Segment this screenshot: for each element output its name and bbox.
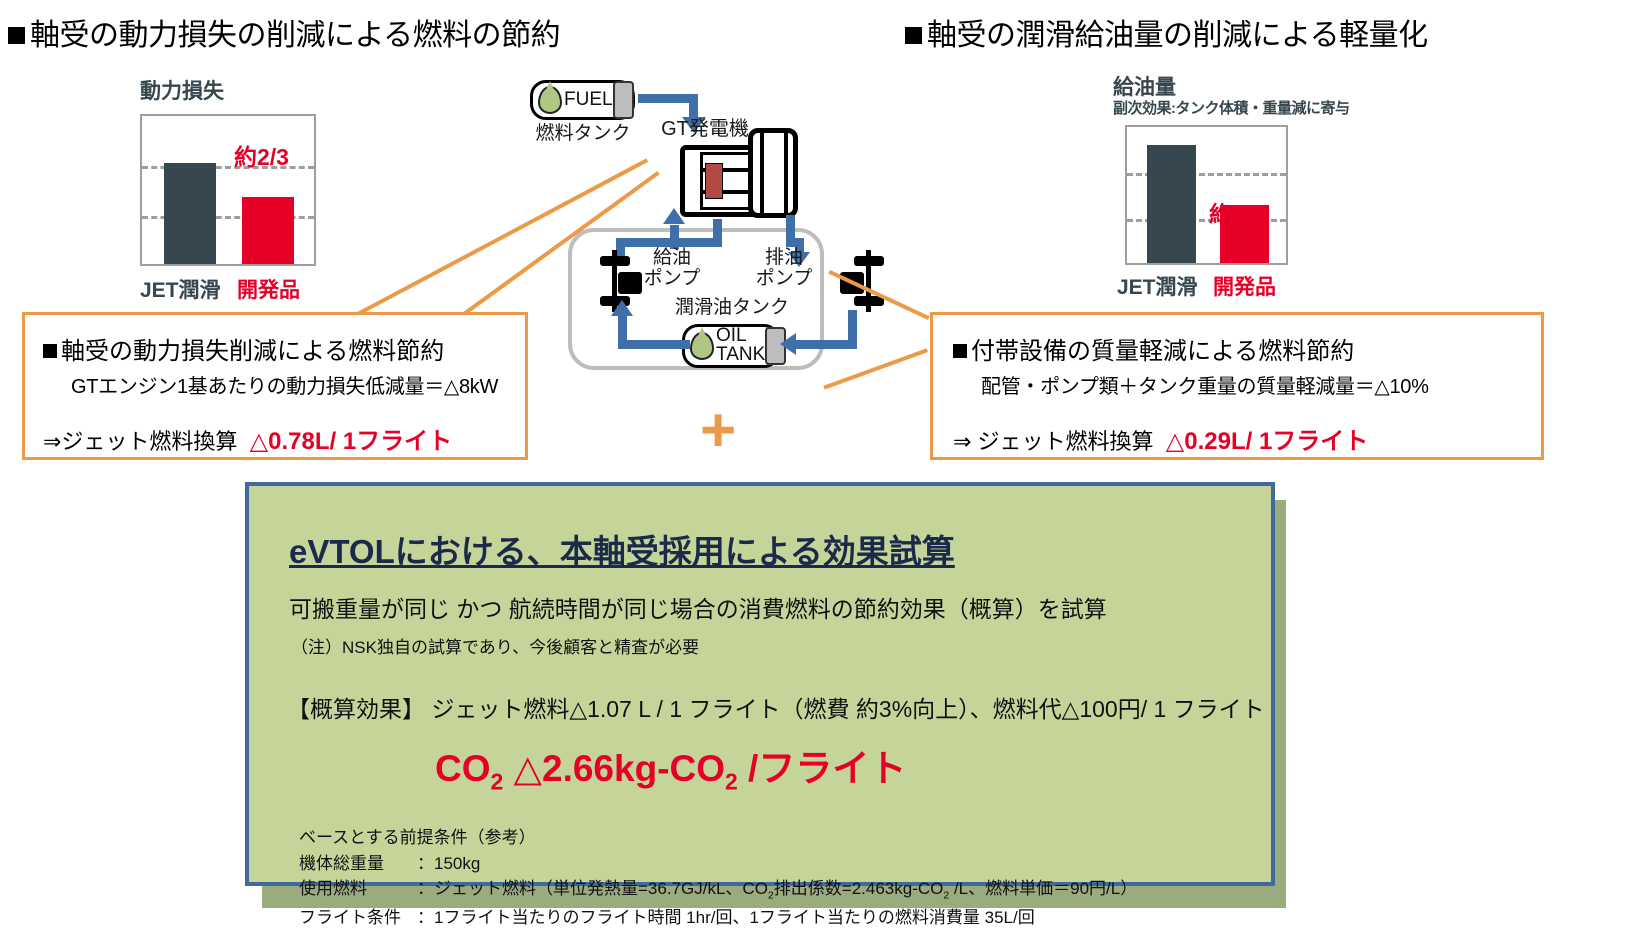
callout-left-heading: 軸受の動力損失削減による燃料節約 [43, 331, 525, 366]
header-left-text: 軸受の動力損失の削減による燃料の節約 [30, 19, 560, 52]
fuel-tank-badge: FUEL [530, 80, 635, 120]
callout-left-result: ⇒ジェット燃料換算 △0.78L/ 1フライト [43, 421, 525, 456]
header-right: 軸受の潤滑給油量の削減による軽量化 [905, 10, 1428, 54]
summary-title: eVTOLにおける、本軸受採用による効果試算 [289, 525, 955, 573]
bearing-block-icon [705, 163, 723, 199]
bar-jet-lubrication [1147, 145, 1196, 263]
assumption-row: 使用燃料：ジェット燃料（単位発熱量=36.7GJ/kL、CO2排出係数=2.46… [299, 876, 1271, 904]
plus-sign: + [700, 400, 736, 462]
oil-tank-badge: OIL TANK [682, 324, 780, 368]
callout-right-detail: 配管・ポンプ類＋タンク重量の質量軽減量＝△10% [981, 370, 1541, 399]
supply-pipe-to-engine [670, 225, 679, 249]
oil-drain-pipe [848, 310, 857, 344]
chart-oil-supply: 給油量 副次効果:タンク体積・重量減に寄与 約1/4 JET潤滑 開発品 [1113, 76, 1350, 297]
tank-cap-icon [613, 81, 634, 119]
drum-line [760, 130, 764, 216]
chart-plot-area: 約1/4 [1125, 125, 1288, 265]
fuel-tank-label: 燃料タンク [528, 124, 638, 145]
header-right-text: 軸受の潤滑給油量の削減による軽量化 [927, 19, 1428, 52]
summary-lead: 可搬重量が同じ かつ 航続時間が同じ場合の消費燃料の節約効果（概算）を試算 [289, 590, 1271, 624]
summary-co2-headline: CO2 △2.66kg-CO2 /フライト [435, 738, 1271, 795]
summary-note: （注）NSK独自の試算であり、今後顧客と精査が必要 [291, 633, 1271, 658]
loop-pipe [713, 219, 722, 247]
generator-drum [748, 128, 798, 218]
ratio-annotation: 約1/4 [1209, 197, 1262, 229]
callout-right-result: ⇒ ジェット燃料換算 △0.29L/ 1フライト [953, 421, 1541, 456]
callout-right-heading: 付帯設備の質量軽減による燃料節約 [953, 331, 1541, 366]
axis-label-developed: 開発品 [1213, 271, 1276, 301]
callout-left: 軸受の動力損失削減による燃料節約 GTエンジン1基あたりの動力損失低減量＝△8k… [22, 312, 528, 460]
oil-return-arrow-icon [611, 300, 633, 316]
bar-developed-product [242, 197, 294, 264]
oil-drain-arrow-icon [780, 333, 796, 355]
bullet-square-icon [43, 344, 57, 358]
leader-line-right-b [823, 348, 928, 389]
summary-panel: eVTOLにおける、本軸受採用による効果試算 可搬重量が同じ かつ 航続時間が同… [245, 482, 1275, 886]
loop-pipe [616, 238, 722, 247]
axis-label-developed: 開発品 [237, 274, 300, 304]
ratio-annotation: 約2/3 [234, 138, 289, 172]
summary-assumptions: ベースとする前提条件（参考） 機体総重量：150kg 使用燃料：ジェット燃料（単… [299, 825, 1271, 930]
chart-power-loss: 動力損失 約2/3 JET潤滑 開発品 [140, 80, 316, 300]
header-left: 軸受の動力損失の削減による燃料の節約 [8, 10, 560, 54]
bullet-square-icon [953, 344, 967, 358]
assumption-row: フライト条件：1フライト当たりのフライト時間 1hr/回、1フライト当たりの燃料… [299, 905, 1271, 931]
drain-pump-label: 排油 ポンプ [748, 248, 820, 290]
oil-drop-icon [690, 332, 714, 360]
axis-label-jet: JET潤滑 [1117, 271, 1198, 301]
supply-pump-label: 給油 ポンプ [636, 248, 708, 290]
oil-return-pipe [618, 316, 627, 344]
bullet-square-icon [905, 27, 922, 44]
chart-title: 動力損失 [140, 80, 316, 104]
chart-subtitle: 副次効果:タンク体積・重量減に寄与 [1113, 100, 1350, 117]
chart-title: 給油量 [1113, 76, 1350, 100]
oil-tank-badge-label: OIL TANK [716, 327, 765, 364]
oil-tank-label: 潤滑油タンク [662, 298, 802, 319]
assumption-fuel-value: ：ジェット燃料（単位発熱量=36.7GJ/kL、CO2排出係数=2.463kg-… [417, 879, 1137, 898]
bar-jet-lubrication [164, 163, 216, 264]
generator-label: GT発電機 [645, 118, 765, 140]
summary-effect-line: 【概算効果】 ジェット燃料△1.07 L / 1 フライト（燃費 約3%向上）、… [287, 690, 1271, 724]
drum-line [784, 130, 788, 216]
assumptions-title: ベースとする前提条件（参考） [299, 825, 1271, 851]
assumption-row: 機体総重量：150kg [299, 851, 1271, 877]
fuel-drop-icon [538, 86, 562, 114]
callout-left-detail: GTエンジン1基あたりの動力損失低減量＝△8kW [71, 370, 525, 399]
supply-arrow-icon [663, 208, 685, 224]
callout-right: 付帯設備の質量軽減による燃料節約 配管・ポンプ類＋タンク重量の質量軽減量＝△10… [930, 312, 1544, 460]
bullet-square-icon [8, 27, 25, 44]
axis-label-jet: JET潤滑 [140, 274, 221, 304]
oil-return-pipe [618, 340, 690, 349]
fuel-tank-badge-label: FUEL [564, 91, 613, 110]
chart-plot-area: 約2/3 [140, 114, 316, 266]
